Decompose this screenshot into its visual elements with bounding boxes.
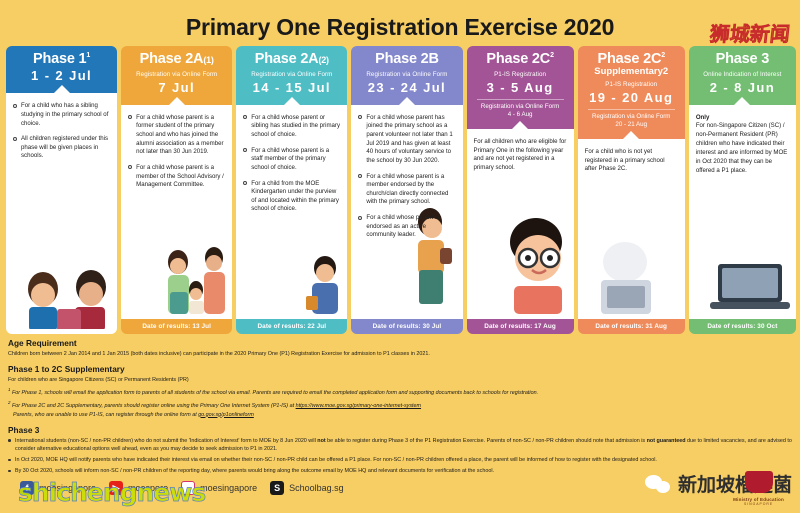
phase-name: Phase 2C2 [582,52,681,67]
phase-date: 14 - 15 Jul [240,80,343,95]
notes-section: Age Requirement Children born between 2 … [8,338,792,478]
phase-results-date: Date of results: 30 Jul [351,319,462,334]
phase-results-date: Date of results: 17 Aug [467,319,574,334]
phase-registration-label: P1-IS Registration [471,71,570,78]
bullet-icon [243,181,247,185]
watermark-top: 狮城新闻 [708,18,791,47]
bullet-icon [8,459,11,462]
phase-criteria-list: For a child whose parent has joined the … [358,114,455,240]
phase-header-phase-2b: Phase 2BRegistration via Online Form23 -… [351,46,462,105]
phase-registration-label-secondary: Registration via Online Form [471,103,570,111]
social-label: Schoolbag.sg [289,483,344,493]
phase-results-date: Date of results: 31 Aug [578,319,685,334]
phase-registration-label: Registration via Online Form [355,71,458,78]
phase-date-secondary: 4 - 6 Aug [471,111,570,119]
illustration-phase-3 [696,244,796,319]
phase-date: 19 - 20 Aug [582,90,681,105]
schoolbag-icon: S [270,481,284,495]
phase-criteria-list: For a child whose parent is a former stu… [128,114,225,190]
phase-results-date: Date of results: 30 Oct [689,319,796,334]
phase-date: 23 - 24 Jul [355,80,458,95]
phase-description: OnlyFor non-Singapore Citizen (SC) / non… [696,114,789,176]
phase-column-phase-2a1: Phase 2A(1)Registration via Online Form7… [121,46,232,334]
phase-column-phase-3: Phase 3Online Indication of Interest2 - … [689,46,796,334]
bullet-icon [128,165,132,169]
phase-registration-label: Online Indication of Interest [693,71,792,78]
phase-registration-label-secondary: Registration via Online Form [582,113,681,121]
bullet-icon [8,439,11,442]
phase-criteria-item: All children registered under this phase… [13,135,110,161]
bullet-icon [13,104,17,108]
age-requirement-heading: Age Requirement [8,338,792,348]
phase-subtitle-footnote-marker: 2 [663,66,668,77]
phase-name-subscript: (1) [203,55,213,65]
phase-name: Phase 2B [355,52,458,67]
phase-name: Phase 2A(2) [240,52,343,67]
illustration-phase-2a2 [243,252,347,319]
phase-subtitle: Supplementary2 [582,67,681,77]
phase-column-phase-2a2: Phase 2A(2)Registration via Online Form1… [236,46,347,334]
phase3-note-item: International students (non-SC / non-PR … [8,437,792,453]
p1is-link[interactable]: https://www.moe.gov.sg/primary-one-inter… [296,403,421,409]
social-link-schoolbag-sg[interactable]: SSchoolbag.sg [270,481,344,495]
phase-criteria-item: For a child whose parent is a member of … [128,164,225,190]
footnote-2-text-b: Parents, who are unable to use P1-IS, ca… [13,412,198,418]
illustration-phase-1 [13,251,117,334]
phase-name: Phase 3 [693,52,792,67]
bullet-icon [8,470,11,473]
phase-body-phase-2c: For all children who are eligible for Pr… [467,129,574,319]
phase-results-date: Date of results: 13 Jul [121,319,232,334]
title-bar: Primary One Registration Exercise 2020 狮… [0,8,800,46]
phase-name-footnote-marker: 2 [550,52,554,59]
phase3-note-text: International students (non-SC / non-PR … [15,438,792,452]
phase-header-phase-2c-supplementary: Phase 2C2Supplementary2P1-IS Registratio… [578,46,685,139]
phase3-note-item: In Oct 2020, MOE HQ will notify parents … [8,456,792,464]
phase-header-phase-2a2: Phase 2A(2)Registration via Online Form1… [236,46,347,105]
watermark-bottom: shichengnews [18,478,205,507]
phase1-2c-text: For children who are Singapore Citizens … [8,376,792,384]
phase-criteria-item: For a child whose parent has joined the … [358,114,455,166]
illustration-phase-2c-supplementary [585,228,685,319]
bullet-icon [358,216,362,220]
bullet-icon [358,115,362,119]
moe-lion-icon [741,471,777,497]
phase-name-subscript: (2) [318,55,328,65]
phase-header-phase-2c: Phase 2C2P1-IS Registration3 - 5 AugRegi… [467,46,574,129]
phase-criteria-item: For a child whose parent is a former stu… [128,114,225,157]
phase-date: 7 Jul [125,80,228,95]
phase-registration-label: P1-IS Registration [582,81,681,88]
phase-criteria-item: For a child who has a sibling studying i… [13,102,110,128]
phase3-note-text: In Oct 2020, MOE HQ will notify parents … [15,457,657,463]
moe-country: SINGAPORE [733,502,784,506]
phase-body-phase-3: OnlyFor non-Singapore Citizen (SC) / non… [689,105,796,319]
phase-column-phase-2c-supplementary: Phase 2C2Supplementary2P1-IS Registratio… [578,46,685,334]
phase-description: For all children who are eligible for Pr… [474,138,567,173]
illustration-phase-2a1 [128,244,232,319]
phase-header-phase-2a1: Phase 2A(1)Registration via Online Form7… [121,46,232,105]
phase-body-phase-1: For a child who has a sibling studying i… [6,93,117,334]
page-title: Primary One Registration Exercise 2020 [0,14,800,41]
footnote-1-text: For Phase 1, schools will email the appl… [12,390,538,396]
moe-logo: Ministry of Education SINGAPORE [733,471,784,506]
divider [588,109,675,110]
phase-results-date: Date of results: 22 Jul [236,319,347,334]
phase-name: Phase 11 [10,52,113,67]
phase-header-phase-3: Phase 3Online Indication of Interest2 - … [689,46,796,105]
phase-registration-label: Registration via Online Form [125,71,228,78]
phase-date: 2 - 8 Jun [693,80,792,95]
divider [477,99,564,100]
phase-body-phase-2c-supplementary: For a child who is not yet registered in… [578,139,685,319]
phase3-heading: Phase 3 [8,425,792,435]
phase-criteria-item: For a child whose parent is a member end… [358,173,455,208]
phase-body-phase-2b: For a child whose parent has joined the … [351,105,462,319]
illustration-phase-2c [474,216,574,319]
phase-column-phase-2c: Phase 2C2P1-IS Registration3 - 5 AugRegi… [467,46,574,334]
age-requirement-text: Children born between 2 Jan 2014 and 1 J… [8,350,792,358]
wechat-icon [645,473,671,495]
phase-column-phase-2b: Phase 2BRegistration via Online Form23 -… [351,46,462,334]
bullet-icon [128,115,132,119]
phase1-2c-heading: Phase 1 to 2C Supplementary [8,364,792,374]
phase-body-phase-2a2: For a child whose parent or sibling has … [236,105,347,319]
phase-criteria-item: For a child whose parent is endorsed as … [358,214,455,240]
phase-column-phase-1: Phase 111 - 2 JulFor a child who has a s… [6,46,117,334]
phase-criteria-list: For a child who has a sibling studying i… [13,102,110,161]
bullet-icon [13,137,17,141]
bullet-icon [358,174,362,178]
phase-body-phase-2a1: For a child whose parent is a former stu… [121,105,232,319]
footnote-1: 1 For Phase 1, schools will email the ap… [8,387,792,397]
phase3-note-text: By 30 Oct 2020, schools will inform non-… [15,468,494,474]
phase-description-emphasis: Only [696,114,710,121]
phase-name-footnote-marker: 1 [86,52,90,59]
phase-description: For a child who is not yet registered in… [585,148,678,174]
social-label: moesingapore [200,483,257,493]
bullet-icon [243,148,247,152]
footnote-2: 2 For Phase 2C and 2C Supplementary, par… [8,400,792,419]
infographic-page: Primary One Registration Exercise 2020 狮… [0,0,800,513]
phase-name-footnote-marker: 2 [661,52,665,59]
footnote-2-text-a: For Phase 2C and 2C Supplementary, paren… [12,403,296,409]
phase-criteria-item: For a child whose parent is a staff memb… [243,147,340,173]
online-form-link[interactable]: go.gov.sg/p1onlineform [198,412,254,418]
phase-registration-label: Registration via Online Form [240,71,343,78]
phase-name: Phase 2A(1) [125,52,228,67]
phase-criteria-item: For a child from the MOE Kindergarten un… [243,180,340,215]
phase-header-phase-1: Phase 111 - 2 Jul [6,46,117,93]
phase-criteria-list: For a child whose parent or sibling has … [243,114,340,214]
phase-columns: Phase 111 - 2 JulFor a child who has a s… [6,46,796,334]
phase-date-secondary: 20 - 21 Aug [582,121,681,129]
footnote-2-marker: 2 [8,400,10,405]
phase-name: Phase 2C2 [471,52,570,67]
phase-criteria-item: For a child whose parent or sibling has … [243,114,340,140]
footnote-1-marker: 1 [8,387,10,392]
phase-date: 3 - 5 Aug [471,80,570,95]
bullet-icon [243,115,247,119]
phase-date: 1 - 2 Jul [10,68,113,83]
